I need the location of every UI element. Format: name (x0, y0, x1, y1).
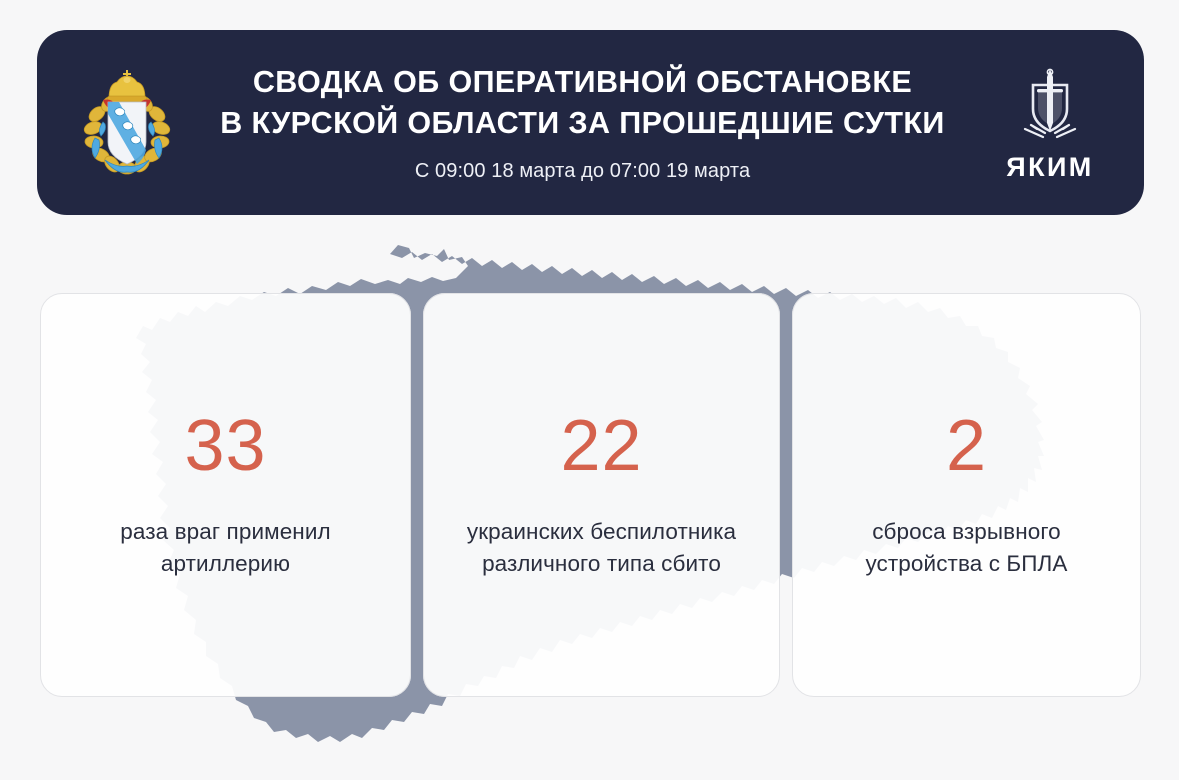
stat-value: 2 (946, 410, 987, 482)
stat-cards-row: 33 раза враг применил артиллерию 22 укра… (40, 293, 1141, 697)
page-title-line-1: СВОДКА ОБ ОПЕРАТИВНОЙ ОБСТАНОВКЕ (189, 62, 976, 102)
page-title-line-2: В КУРСКОЙ ОБЛАСТИ ЗА ПРОШЕДШИЕ СУТКИ (189, 103, 976, 143)
infographic-page: СВОДКА ОБ ОПЕРАТИВНОЙ ОБСТАНОВКЕ В КУРСК… (0, 0, 1179, 780)
report-period-subtitle: С 09:00 18 марта до 07:00 19 марта (189, 160, 976, 183)
stat-value: 33 (184, 410, 266, 482)
header-text-block: СВОДКА ОБ ОПЕРАТИВНОЙ ОБСТАНОВКЕ В КУРСК… (179, 62, 986, 183)
stat-label-line-1: украинских беспилотника (467, 516, 736, 548)
stat-label: сброса взрывного устройства с БПЛА (865, 516, 1067, 580)
stat-label-line-2: устройства с БПЛА (865, 548, 1067, 580)
stat-label: украинских беспилотника различного типа … (467, 516, 736, 580)
stat-label-line-2: различного типа сбито (467, 548, 736, 580)
header-banner: СВОДКА ОБ ОПЕРАТИВНОЙ ОБСТАНОВКЕ В КУРСК… (37, 30, 1144, 215)
stat-card-explosive-drops[interactable]: 2 сброса взрывного устройства с БПЛА (792, 293, 1141, 697)
stat-value: 22 (560, 410, 642, 482)
stat-card-drones[interactable]: 22 украинских беспилотника различного ти… (423, 293, 780, 697)
kursk-oblast-coat-of-arms-icon (75, 64, 179, 182)
stat-label-line-1: сброса взрывного (865, 516, 1067, 548)
stat-card-artillery[interactable]: 33 раза враг применил артиллерию (40, 293, 411, 697)
stat-label-line-1: раза враг применил (120, 516, 330, 548)
stat-label-line-2: артиллерию (120, 548, 330, 580)
shield-sword-icon (1007, 63, 1093, 149)
stat-label: раза враг применил артиллерию (120, 516, 330, 580)
brand-name: ЯКИМ (986, 152, 1114, 183)
brand-block: ЯКИМ (986, 63, 1114, 183)
